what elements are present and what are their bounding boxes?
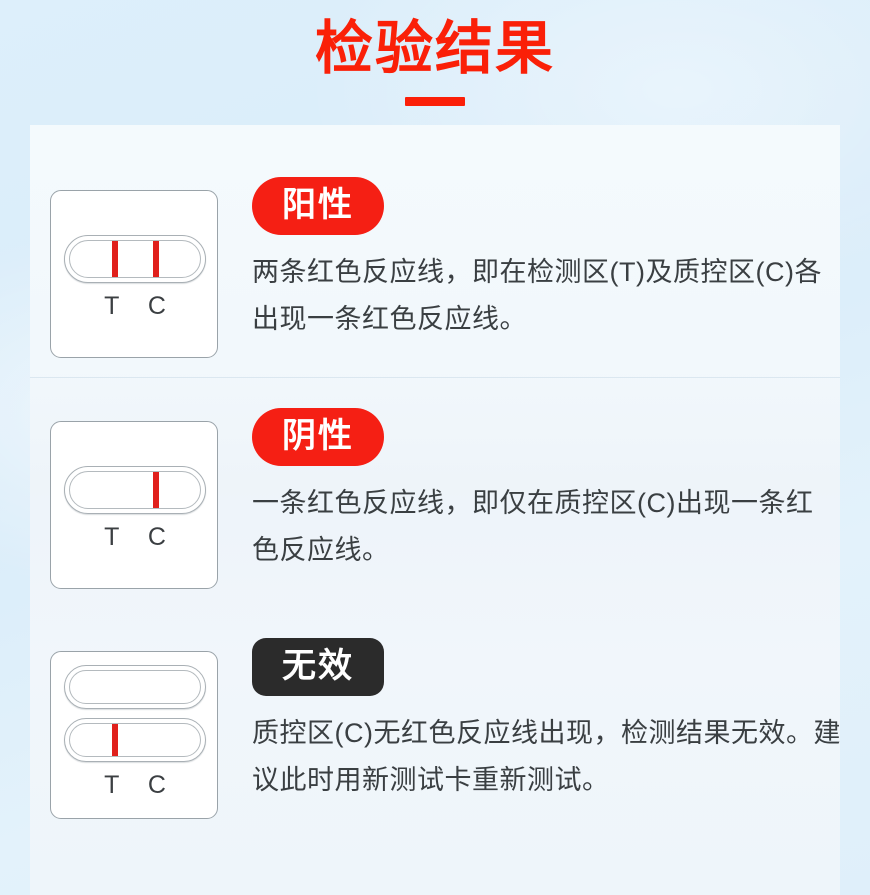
- results-panel: T C 阳性 两条红色反应线，即在检测区(T)及质控区(C)各出现一条红色反应线…: [30, 125, 840, 895]
- status-badge-invalid: 无效: [252, 638, 384, 696]
- result-content-negative: 阴性 一条红色反应线，即仅在质控区(C)出现一条红色反应线。: [252, 408, 832, 574]
- result-content-positive: 阳性 两条红色反应线，即在检测区(T)及质控区(C)各出现一条红色反应线。: [252, 177, 832, 343]
- test-cassette-illustration-negative: T C: [50, 421, 218, 589]
- control-line-band-c: [153, 241, 159, 277]
- result-row-negative: T C 阴性 一条红色反应线，即仅在质控区(C)出现一条红色反应线。: [30, 408, 840, 608]
- control-line-band-c: [153, 472, 159, 508]
- reading-window: [64, 466, 206, 514]
- result-guide-page: 检验结果 T C 阳性 两条红色反应线，即在检测区(: [0, 0, 870, 895]
- reading-window-lower: [64, 718, 206, 762]
- status-badge-negative: 阴性: [252, 408, 384, 466]
- tc-label: T C: [51, 291, 219, 321]
- result-description-invalid: 质控区(C)无红色反应线出现，检测结果无效。建议此时用新测试卡重新测试。: [252, 710, 848, 804]
- panel-divider: [30, 377, 840, 378]
- status-badge-positive: 阳性: [252, 177, 384, 235]
- page-header: 检验结果: [0, 0, 870, 126]
- test-line-band-t: [112, 724, 118, 756]
- tc-label: T C: [51, 770, 219, 800]
- result-row-positive: T C 阳性 两条红色反应线，即在检测区(T)及质控区(C)各出现一条红色反应线…: [30, 177, 840, 377]
- result-row-invalid: T C 无效 质控区(C)无红色反应线出现，检测结果无效。建议此时用新测试卡重新…: [30, 638, 840, 843]
- result-content-invalid: 无效 质控区(C)无红色反应线出现，检测结果无效。建议此时用新测试卡重新测试。: [252, 638, 832, 804]
- test-line-band-t: [112, 241, 118, 277]
- reading-window: [64, 235, 206, 283]
- result-description-positive: 两条红色反应线，即在检测区(T)及质控区(C)各出现一条红色反应线。: [252, 249, 824, 343]
- result-description-negative: 一条红色反应线，即仅在质控区(C)出现一条红色反应线。: [252, 480, 824, 574]
- page-title: 检验结果: [0, 10, 870, 88]
- reading-window-upper: [64, 665, 206, 709]
- title-underline-bar: [405, 97, 465, 106]
- tc-label: T C: [51, 522, 219, 552]
- test-cassette-illustration-positive: T C: [50, 190, 218, 358]
- test-cassette-illustration-invalid: T C: [50, 651, 218, 819]
